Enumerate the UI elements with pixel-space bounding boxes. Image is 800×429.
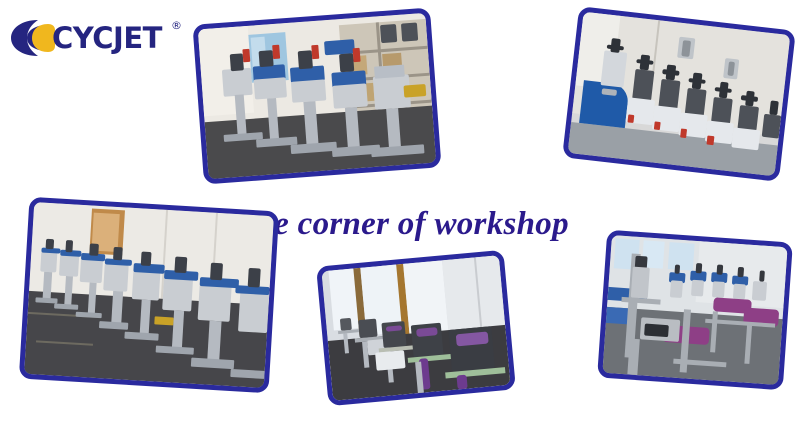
photo-conveyor-line [597, 230, 793, 391]
registered-trademark-icon: ® [171, 20, 182, 31]
photo-printer-row [562, 6, 796, 182]
page-title: the corner of workshop [246, 205, 569, 243]
brand-wordmark: CYCJET [52, 21, 162, 55]
brand-logo: CYCJET ® [6, 14, 196, 64]
page-canvas: CYCJET ® the corner of workshop [0, 0, 800, 429]
photo-coder-bench [316, 250, 516, 406]
photo-laser-row-1 [192, 7, 441, 184]
photo-laser-row-2 [19, 197, 279, 394]
